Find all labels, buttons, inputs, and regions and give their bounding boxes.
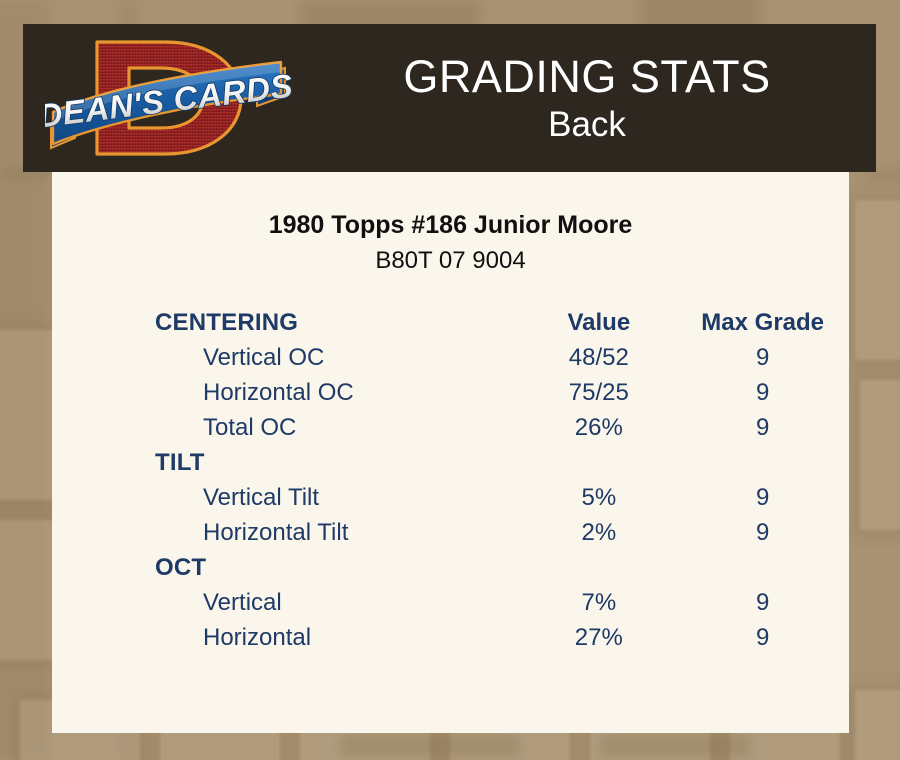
stats-value-column-header: Value (521, 305, 676, 340)
stats-max-grade-column-header: Max Grade (676, 305, 849, 340)
stats-row-value: 27% (521, 620, 676, 655)
stats-row-label: Vertical OC (52, 340, 521, 375)
stats-row: Vertical Tilt5%9 (52, 480, 849, 515)
stats-row-max-grade: 9 (676, 340, 849, 375)
stats-row-label: Total OC (52, 410, 521, 445)
content-panel: 1980 Topps #186 Junior Moore B80T 07 900… (52, 172, 849, 733)
stats-section-name: OCT (52, 550, 521, 585)
stats-row-max-grade: 9 (676, 585, 849, 620)
stats-row-max-grade: 9 (676, 375, 849, 410)
stats-value-column-header (521, 550, 676, 585)
stats-row: Vertical7%9 (52, 585, 849, 620)
card-serial-number: B80T 07 9004 (52, 246, 849, 275)
stats-section-header: TILT (52, 445, 849, 480)
header-bar: DEAN'S CARDS GRADING STATS Back (23, 24, 876, 172)
stats-row-label: Horizontal Tilt (52, 515, 521, 550)
logo-ribbon-text: DEAN'S CARDS (45, 67, 295, 135)
stats-row-label: Vertical (52, 585, 521, 620)
page-subtitle: Back (548, 104, 626, 146)
stats-row-value: 48/52 (521, 340, 676, 375)
stats-row: Total OC26%9 (52, 410, 849, 445)
stats-row-value: 7% (521, 585, 676, 620)
stats-value-column-header (521, 445, 676, 480)
page-title: GRADING STATS (403, 50, 770, 104)
deans-cards-logo[interactable]: DEAN'S CARDS (45, 28, 295, 168)
stats-row-label: Vertical Tilt (52, 480, 521, 515)
grading-stats-body: CENTERINGValueMax GradeVertical OC48/529… (52, 305, 849, 655)
stats-section-name: TILT (52, 445, 521, 480)
stats-row-max-grade: 9 (676, 515, 849, 550)
stats-row-max-grade: 9 (676, 410, 849, 445)
stats-row-label: Horizontal (52, 620, 521, 655)
stats-row-value: 2% (521, 515, 676, 550)
grading-stats-table: CENTERINGValueMax GradeVertical OC48/529… (52, 305, 849, 655)
stats-row: Horizontal27%9 (52, 620, 849, 655)
stats-row-max-grade: 9 (676, 620, 849, 655)
stats-row-label: Horizontal OC (52, 375, 521, 410)
stats-section-header: CENTERINGValueMax Grade (52, 305, 849, 340)
stats-row-value: 5% (521, 480, 676, 515)
stats-row-max-grade: 9 (676, 480, 849, 515)
stats-section-header: OCT (52, 550, 849, 585)
stats-row: Horizontal Tilt2%9 (52, 515, 849, 550)
stats-max-grade-column-header (676, 445, 849, 480)
card-title: 1980 Topps #186 Junior Moore (52, 210, 849, 240)
stats-max-grade-column-header (676, 550, 849, 585)
stats-row-value: 75/25 (521, 375, 676, 410)
stats-row: Vertical OC48/529 (52, 340, 849, 375)
stats-row: Horizontal OC75/259 (52, 375, 849, 410)
stats-section-name: CENTERING (52, 305, 521, 340)
stats-row-value: 26% (521, 410, 676, 445)
